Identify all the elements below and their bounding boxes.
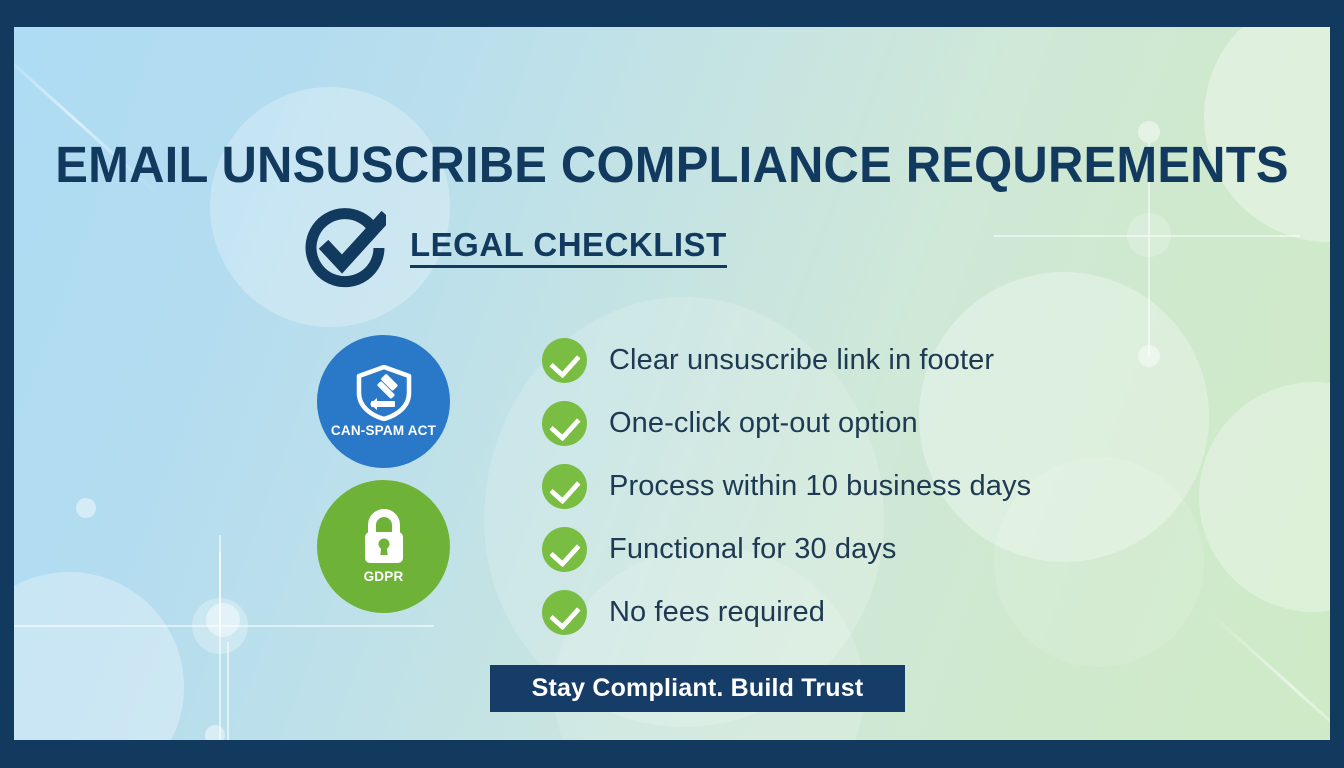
- tagline-text: Stay Compliant. Build Trust: [532, 674, 864, 703]
- checklist-item-label: Clear unsuscribe link in footer: [609, 344, 994, 377]
- check-mark-icon: [542, 527, 587, 572]
- decorative-streak-bottom-right: [1208, 610, 1330, 740]
- decorative-circle-f: [14, 572, 184, 740]
- check-mark-icon: [542, 464, 587, 509]
- compliance-checklist: Clear unsuscribe link in footer One-clic…: [542, 337, 1031, 635]
- decorative-network-left: [14, 457, 354, 740]
- list-item: One-click opt-out option: [542, 400, 1031, 446]
- page-title: EMAIL UNSUSCRIBE COMPLIANCE REQUREMENTS: [40, 135, 1303, 194]
- check-mark-icon: [542, 590, 587, 635]
- shield-gavel-icon: [354, 365, 414, 421]
- badge-can-spam-act: CAN-SPAM ACT: [317, 335, 450, 468]
- check-mark-icon: [542, 401, 587, 446]
- checklist-item-label: Functional for 30 days: [609, 533, 897, 566]
- compliance-badges: CAN-SPAM ACT GDPR: [317, 335, 450, 613]
- checklist-item-label: Process within 10 business days: [609, 470, 1031, 503]
- badge-gdpr: GDPR: [317, 480, 450, 613]
- list-item: No fees required: [542, 589, 1031, 635]
- list-item: Clear unsuscribe link in footer: [542, 337, 1031, 383]
- check-mark-icon: [542, 338, 587, 383]
- checklist-item-label: One-click opt-out option: [609, 407, 918, 440]
- subtitle-row: LEGAL CHECKLIST: [304, 207, 727, 289]
- subtitle-legal-checklist: LEGAL CHECKLIST: [410, 228, 727, 269]
- poster-canvas: EMAIL UNSUSCRIBE COMPLIANCE REQUREMENTS …: [14, 27, 1330, 740]
- poster-frame: EMAIL UNSUSCRIBE COMPLIANCE REQUREMENTS …: [0, 0, 1344, 768]
- decorative-circle-e: [1199, 382, 1330, 612]
- list-item: Process within 10 business days: [542, 463, 1031, 509]
- check-circle-icon: [304, 207, 386, 289]
- padlock-icon: [357, 509, 411, 567]
- badge-label-can-spam-act: CAN-SPAM ACT: [331, 423, 436, 438]
- tagline-banner: Stay Compliant. Build Trust: [490, 665, 905, 712]
- list-item: Functional for 30 days: [542, 526, 1031, 572]
- badge-label-gdpr: GDPR: [364, 569, 404, 584]
- checklist-item-label: No fees required: [609, 596, 825, 629]
